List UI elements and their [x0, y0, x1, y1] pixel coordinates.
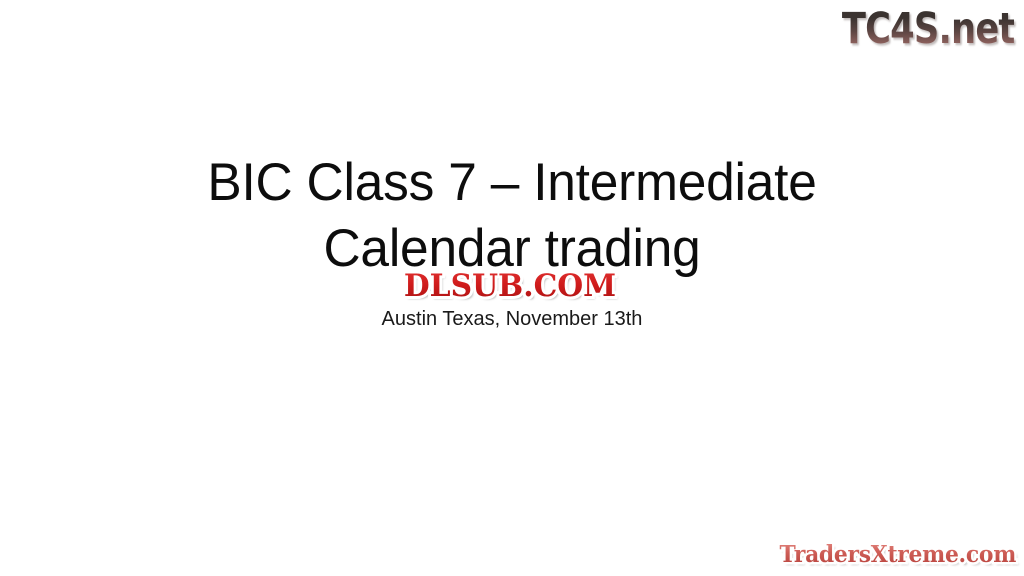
slide-subtitle: Austin Texas, November 13th — [0, 306, 1024, 332]
watermark-tc4s: TC4S.net — [841, 4, 1014, 54]
watermark-dlsub-fill: DLSUB.COM — [369, 268, 651, 304]
slide-title: BIC Class 7 – Intermediate — [15, 150, 1008, 216]
subtitle-block: Austin Texas, November 13th — [0, 306, 1024, 332]
watermark-tradersxtreme-fill: TradersXtreme.com — [779, 540, 1016, 570]
title-block: BIC Class 7 – Intermediate Calendar trad… — [0, 150, 1024, 282]
watermark-dlsub: DLSUB.COM DLSUB.COM — [363, 268, 657, 304]
presentation-slide: BIC Class 7 – Intermediate Calendar trad… — [0, 0, 1024, 576]
watermark-tradersxtreme: TradersXtreme.com TradersXtreme.com — [766, 540, 1016, 570]
